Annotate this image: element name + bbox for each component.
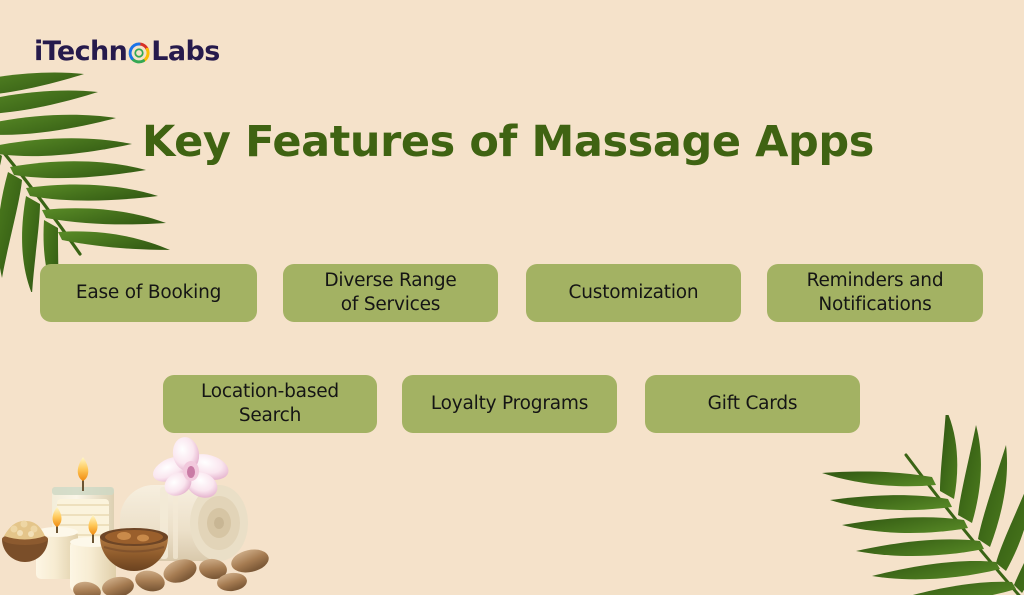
feature-pill-location-based-search[interactable]: Location-basedSearch <box>163 375 377 433</box>
feature-pill-loyalty-programs[interactable]: Loyalty Programs <box>402 375 617 433</box>
spa-candles-towel-photo <box>0 435 290 595</box>
feature-row-2: Location-basedSearch Loyalty Programs Gi… <box>163 375 860 433</box>
brand-name-suffix: Labs <box>151 38 219 65</box>
page-title: Key Features of Massage Apps <box>0 117 1024 167</box>
brand-logo[interactable]: iTechn Labs <box>34 34 220 68</box>
feature-pill-gift-cards[interactable]: Gift Cards <box>645 375 860 433</box>
feature-row-1: Ease of Booking Diverse Rangeof Services… <box>40 264 983 322</box>
multicolor-ring-icon <box>128 42 150 64</box>
feature-pill-reminders-and-notifications[interactable]: Reminders andNotifications <box>767 264 983 322</box>
feature-pill-diverse-range-of-services[interactable]: Diverse Rangeof Services <box>283 264 498 322</box>
feature-pill-customization[interactable]: Customization <box>526 264 741 322</box>
palm-leaf-top-left-icon <box>0 62 178 292</box>
feature-pill-ease-of-booking[interactable]: Ease of Booking <box>40 264 257 322</box>
infographic-canvas: iTechn Labs Key Features of Massage Apps… <box>0 0 1024 595</box>
palm-leaf-bottom-right-icon <box>812 415 1024 595</box>
brand-name-prefix: iTechn <box>34 38 127 65</box>
